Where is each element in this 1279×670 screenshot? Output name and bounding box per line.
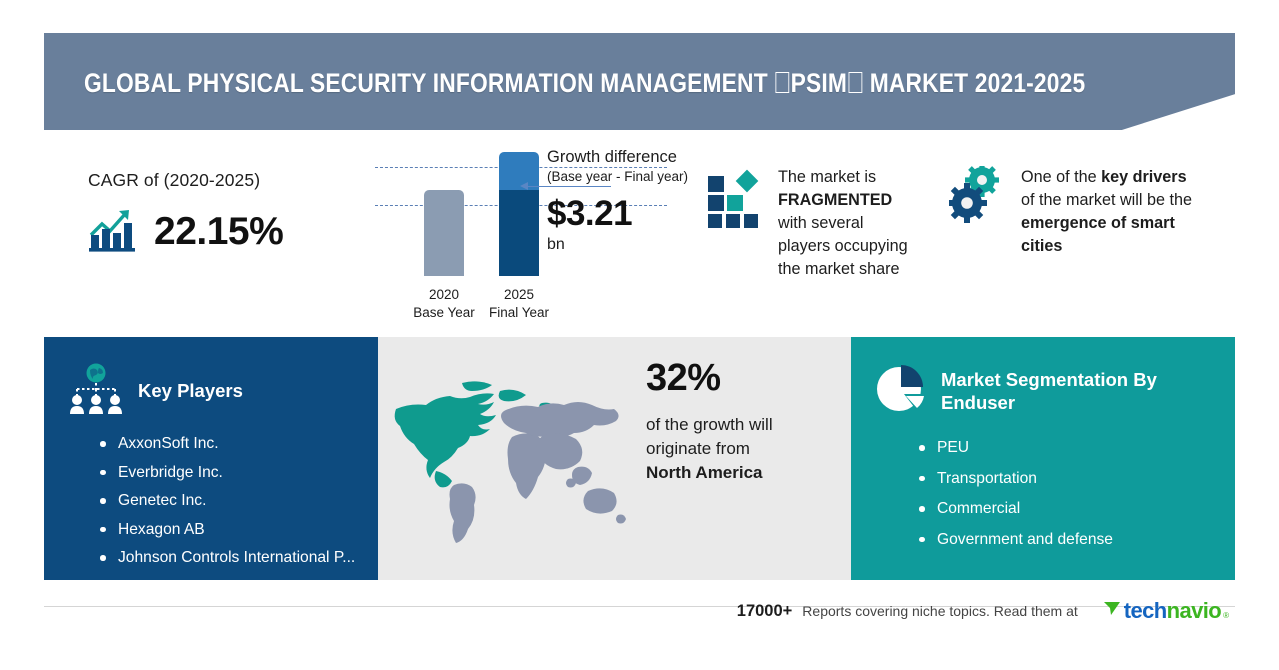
fragmented-line2: with several <box>778 214 863 232</box>
segmentation-list: PEU Transportation Commercial Government… <box>851 440 1235 547</box>
cagr-value: 22.15% <box>154 210 283 254</box>
logo-trademark: ® <box>1223 611 1229 620</box>
gears-icon <box>949 166 1007 258</box>
page-title-bracketed: PSIM <box>791 68 847 98</box>
drivers-bold3: cities <box>1021 237 1062 255</box>
list-item: Hexagon AB <box>100 522 378 538</box>
list-item: Everbridge Inc. <box>100 465 378 481</box>
bar-year-final: 2025 <box>474 286 564 303</box>
footer: 17000+ Reports covering niche topics. Re… <box>44 592 1235 630</box>
technavio-wordmark: technavio <box>1124 598 1221 624</box>
key-players-list: AxxonSoft Inc. Everbridge Inc. Genetec I… <box>44 436 378 566</box>
region-percent: 32% <box>646 359 846 397</box>
region-desc-bold: North America <box>646 463 763 482</box>
key-drivers-text: One of the key drivers of the market wil… <box>1021 166 1226 258</box>
market-segmentation-panel: Market Segmentation By Enduser PEU Trans… <box>851 337 1235 580</box>
fragmented-line4: the market share <box>778 260 899 278</box>
segmentation-title-line1: Market Segmentation By <box>941 369 1157 390</box>
fragmented-text: The market is FRAGMENTED with several pl… <box>778 166 938 281</box>
cagr-row: 22.15% <box>88 205 388 258</box>
bar-base-year <box>424 190 464 276</box>
drivers-bold2: emergence of smart <box>1021 214 1175 232</box>
annotation-arrow-icon <box>527 186 611 187</box>
key-players-title: Key Players <box>138 380 243 403</box>
key-players-panel: Key Players AxxonSoft Inc. Everbridge In… <box>44 337 378 580</box>
bar-caption-final: 2025 Final Year <box>474 286 564 321</box>
region-stat: 32% of the growth will originate from No… <box>646 359 846 485</box>
logo-navio: navio <box>1167 598 1221 623</box>
fragmented-squares-icon <box>706 166 764 281</box>
region-desc-line1: of the growth will <box>646 415 773 434</box>
segmentation-title-line2: Enduser <box>941 392 1015 413</box>
drivers-line1-pre: One of the <box>1021 168 1101 186</box>
bar-final-year-base <box>499 190 539 276</box>
fragmented-line1: The market is <box>778 168 876 186</box>
infographic-canvas: GLOBAL PHYSICAL SECURITY INFORMATION MAN… <box>0 0 1279 670</box>
fragmented-line3: players occupying <box>778 237 908 255</box>
page-title-pre: GLOBAL PHYSICAL SECURITY INFORMATION MAN… <box>84 68 774 98</box>
footer-report-count: 17000+ <box>737 602 793 621</box>
logo-tech: tech <box>1124 598 1167 623</box>
list-item: Johnson Controls International P... <box>100 550 378 566</box>
missing-glyph-left-icon <box>776 72 790 93</box>
technavio-mark-icon <box>1102 598 1122 623</box>
growth-title: Growth difference <box>547 148 762 167</box>
page-title: GLOBAL PHYSICAL SECURITY INFORMATION MAN… <box>84 68 1013 99</box>
segmentation-header: Market Segmentation By Enduser <box>851 337 1235 420</box>
bar-label-final: Final Year <box>474 304 564 321</box>
world-map-icon <box>392 375 640 545</box>
list-item: Commercial <box>919 501 1235 517</box>
segmentation-title: Market Segmentation By Enduser <box>941 369 1157 415</box>
list-item: PEU <box>919 440 1235 456</box>
fragmented-bold: FRAGMENTED <box>778 191 892 209</box>
key-players-header: Key Players <box>44 337 378 420</box>
footer-text: Reports covering niche topics. Read them… <box>802 603 1077 619</box>
list-item: Government and defense <box>919 532 1235 548</box>
region-description: of the growth will originate from North … <box>646 413 846 485</box>
bar-final-year-growth <box>499 152 539 190</box>
market-fragmentation-block: The market is FRAGMENTED with several pl… <box>706 166 938 281</box>
cagr-label: CAGR of (2020-2025) <box>88 170 388 191</box>
technavio-logo[interactable]: technavio ® <box>1102 598 1229 624</box>
region-growth-panel: 32% of the growth will originate from No… <box>378 337 851 580</box>
globe-network-people-icon <box>68 363 124 420</box>
pie-chart-icon <box>875 363 927 420</box>
key-drivers-block: One of the key drivers of the market wil… <box>949 166 1226 258</box>
list-item: AxxonSoft Inc. <box>100 436 378 452</box>
list-item: Genetec Inc. <box>100 493 378 509</box>
growth-bar-chart: 2020 Base Year 2025 Final Year <box>369 146 569 321</box>
stats-strip: CAGR of (2020-2025) 22.15% <box>44 130 1235 320</box>
list-item: Transportation <box>919 471 1235 487</box>
missing-glyph-right-icon <box>848 72 862 93</box>
drivers-line2: of the market will be the <box>1021 191 1192 209</box>
cagr-block: CAGR of (2020-2025) 22.15% <box>88 170 388 258</box>
drivers-line1-bold: key drivers <box>1101 168 1187 186</box>
bar-chart-growth-icon <box>88 205 140 258</box>
region-desc-line2: originate from <box>646 439 750 458</box>
page-title-post: MARKET 2021-2025 <box>863 68 1085 98</box>
